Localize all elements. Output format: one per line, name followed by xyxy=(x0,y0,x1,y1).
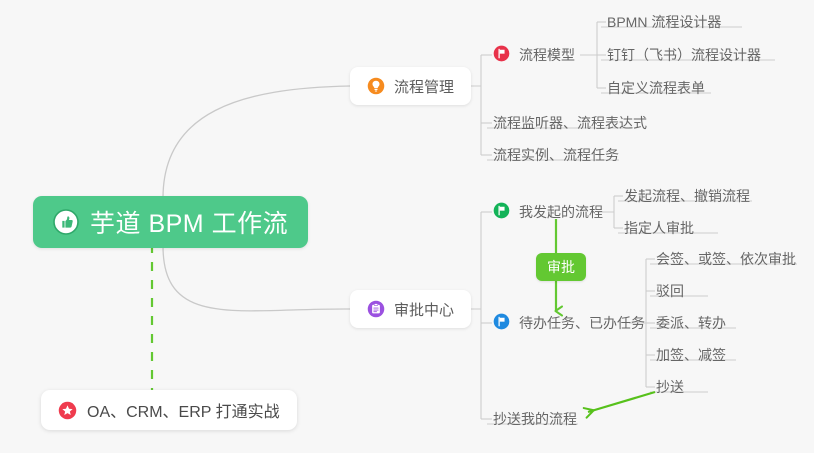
mindmap-canvas: 芋道 BPM 工作流 OA、CRM、ERP 打通实战 审批 流程管理 xyxy=(0,0,814,453)
callout-label: OA、CRM、ERP 打通实战 xyxy=(87,398,280,422)
leaf-label-assignee-approval: 指定人审批 xyxy=(624,221,694,235)
leaf-node-cc[interactable]: 抄送 xyxy=(650,368,692,398)
leaf-node-assignee-approval[interactable]: 指定人审批 xyxy=(618,209,702,239)
leaf-label-listener-expression: 流程监听器、流程表达式 xyxy=(493,116,647,130)
leaf-label-process-model: 流程模型 xyxy=(519,48,575,62)
leaf-label-dingtalk-designer: 钉钉（飞书）流程设计器 xyxy=(607,48,761,62)
root-node[interactable]: 芋道 BPM 工作流 xyxy=(33,196,308,248)
arrow-cc-to-ccme xyxy=(588,392,655,412)
leaf-label-bpmn-designer: BPMN 流程设计器 xyxy=(607,15,721,29)
leaf-label-reject: 驳回 xyxy=(656,284,684,298)
curve-to-approval-center xyxy=(163,246,350,311)
branch-node-approval-center[interactable]: 审批中心 xyxy=(350,290,471,328)
leaf-label-delegate-transfer: 委派、转办 xyxy=(656,316,726,330)
root-label: 芋道 BPM 工作流 xyxy=(90,204,288,240)
branch-label-approval-center: 审批中心 xyxy=(394,299,454,320)
star-icon xyxy=(58,401,77,420)
curve-to-process-management xyxy=(163,86,350,198)
leaf-label-countersign: 会签、或签、依次审批 xyxy=(656,252,796,266)
leaf-node-countersign[interactable]: 会签、或签、依次审批 xyxy=(650,240,804,270)
leaf-node-my-initiated[interactable]: 我发起的流程 xyxy=(487,193,611,223)
thumbs-up-icon xyxy=(53,209,79,235)
leaf-node-todo-done[interactable]: 待办任务、已办任务 xyxy=(487,304,653,334)
leaf-node-instance-task[interactable]: 流程实例、流程任务 xyxy=(487,136,627,166)
leaf-label-cc: 抄送 xyxy=(656,380,684,394)
flag-green-icon xyxy=(493,202,510,219)
branch-label-process-management: 流程管理 xyxy=(394,76,454,97)
leaf-label-my-initiated: 我发起的流程 xyxy=(519,205,603,219)
branch-node-process-management[interactable]: 流程管理 xyxy=(350,67,471,105)
leaf-node-listener-expression[interactable]: 流程监听器、流程表达式 xyxy=(487,104,655,134)
leaf-label-add-remove-sign: 加签、减签 xyxy=(656,348,726,362)
callout-node-integration[interactable]: OA、CRM、ERP 打通实战 xyxy=(41,390,297,430)
arrow-pill-approval[interactable]: 审批 xyxy=(536,253,586,281)
flag-red-icon xyxy=(493,45,510,62)
leaf-node-dingtalk-designer[interactable]: 钉钉（飞书）流程设计器 xyxy=(601,36,769,66)
arrow-pill-label: 审批 xyxy=(547,257,575,277)
leaf-node-reject[interactable]: 驳回 xyxy=(650,272,692,302)
leaf-node-bpmn-designer[interactable]: BPMN 流程设计器 xyxy=(601,3,729,33)
flag-blue-icon xyxy=(493,313,510,330)
leaf-node-start-cancel[interactable]: 发起流程、撤销流程 xyxy=(618,177,758,207)
leaf-node-add-remove-sign[interactable]: 加签、减签 xyxy=(650,336,734,366)
leaf-node-delegate-transfer[interactable]: 委派、转办 xyxy=(650,304,734,334)
leaf-node-cc-to-me[interactable]: 抄送我的流程 xyxy=(487,400,585,430)
leaf-label-cc-to-me: 抄送我的流程 xyxy=(493,412,577,426)
clipboard-icon xyxy=(367,300,385,318)
leaf-label-todo-done: 待办任务、已办任务 xyxy=(519,316,645,330)
leaf-label-custom-form: 自定义流程表单 xyxy=(607,81,705,95)
leaf-node-custom-form[interactable]: 自定义流程表单 xyxy=(601,69,713,99)
leaf-label-instance-task: 流程实例、流程任务 xyxy=(493,148,619,162)
leaf-label-start-cancel: 发起流程、撤销流程 xyxy=(624,189,750,203)
leaf-node-process-model[interactable]: 流程模型 xyxy=(487,36,583,66)
lightbulb-icon xyxy=(367,77,385,95)
